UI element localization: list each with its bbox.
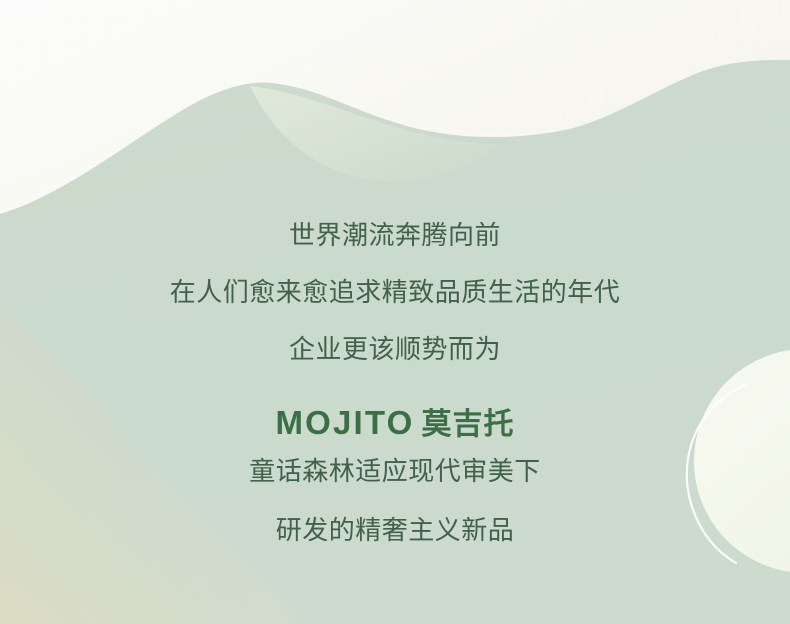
copy-line-3: 企业更该顺势而为 (0, 336, 790, 362)
copy-line-6: 研发的精奢主义新品 (0, 517, 790, 543)
brand-name-latin: MOJITO (275, 404, 414, 441)
copy-line-2: 在人们愈来愈追求精致品质生活的年代 (0, 279, 790, 305)
copy-line-5: 童话森林适应现代审美下 (0, 458, 790, 484)
copy-line-1: 世界潮流奔腾向前 (0, 222, 790, 248)
brand-name: MOJITO莫吉托 (0, 406, 790, 440)
marketing-copy-block: 世界潮流奔腾向前 在人们愈来愈追求精致品质生活的年代 企业更该顺势而为 MOJI… (0, 222, 790, 543)
brand-name-cjk: 莫吉托 (422, 408, 515, 441)
wave-highlight (250, 86, 500, 181)
promo-banner: 世界潮流奔腾向前 在人们愈来愈追求精致品质生活的年代 企业更该顺势而为 MOJI… (0, 0, 790, 624)
